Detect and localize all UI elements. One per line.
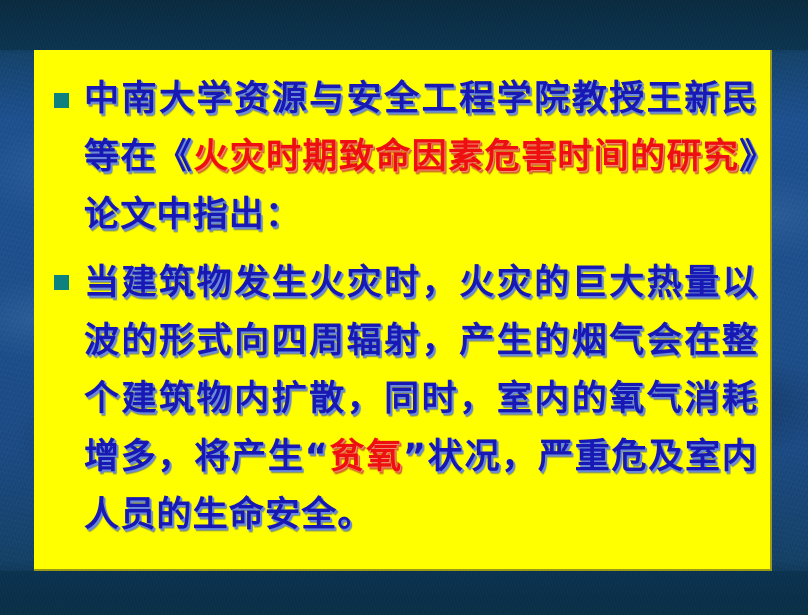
bullet-1-segment-2-highlight: 火灾时期致命因素危害时间的研究 xyxy=(193,137,739,177)
bullet-2-text: 当建筑物发生火灾时，火灾的巨大热量以波的形式向四周辐射，产生的烟气会在整个建筑物… xyxy=(42,248,762,544)
presentation-slide: 中南大学资源与安全工程学院教授王新民等在《火灾时期致命因素危害时间的研究》论文中… xyxy=(0,0,808,615)
square-bullet-icon xyxy=(54,275,69,290)
slide-bottom-band xyxy=(0,571,808,615)
bullet-2-segment-2-highlight: 贫氧 xyxy=(329,437,403,477)
bullet-1-text: 中南大学资源与安全工程学院教授王新民等在《火灾时期致命因素危害时间的研究》论文中… xyxy=(42,64,762,244)
yellow-content-panel: 中南大学资源与安全工程学院教授王新民等在《火灾时期致命因素危害时间的研究》论文中… xyxy=(34,50,772,571)
bullet-item-2: 当建筑物发生火灾时，火灾的巨大热量以波的形式向四周辐射，产生的烟气会在整个建筑物… xyxy=(42,248,762,544)
square-bullet-icon xyxy=(54,93,69,108)
bullet-item-1: 中南大学资源与安全工程学院教授王新民等在《火灾时期致命因素危害时间的研究》论文中… xyxy=(42,64,762,244)
slide-top-band xyxy=(0,0,808,50)
